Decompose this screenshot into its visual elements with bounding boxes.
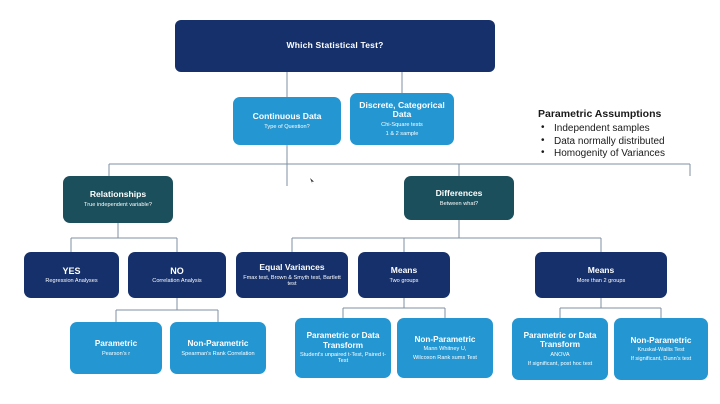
node-means-more-groups-sub: More than 2 groups	[577, 278, 626, 284]
node-no[interactable]: NO Correlation Analysis	[128, 252, 226, 298]
mouse-cursor-icon	[310, 178, 314, 184]
node-relationships-sub: True independent variable?	[84, 202, 152, 208]
legend-title: Parametric Assumptions	[538, 108, 718, 120]
flowchart-canvas: Which Statistical Test? Continuous Data …	[0, 0, 720, 404]
node-parametric-more-groups-sub1: ANOVA	[550, 352, 569, 358]
node-parametric-more-groups-sub2: If significant, post hoc test	[528, 361, 592, 367]
node-differences-title: Differences	[436, 189, 483, 199]
node-nonparametric-two-groups-title: Non-Parametric	[415, 335, 476, 344]
node-continuous-data[interactable]: Continuous Data Type of Question?	[233, 97, 341, 145]
legend-item: Homogenity of Variances	[538, 148, 718, 159]
node-relationships-title: Relationships	[90, 190, 146, 200]
node-no-title: NO	[170, 266, 184, 276]
node-nonparametric-two-groups[interactable]: Non-Parametric Mann Whitney U, Wilcoxon …	[397, 318, 493, 378]
node-parametric-two-groups-title: Parametric or Data Transform	[299, 331, 387, 349]
node-differences[interactable]: Differences Between what?	[404, 176, 514, 220]
node-equal-variances-title: Equal Variances	[259, 263, 324, 273]
node-nonparametric-relationships-title: Non-Parametric	[188, 339, 249, 348]
node-nonparametric-relationships[interactable]: Non-Parametric Spearman's Rank Correlati…	[170, 322, 266, 374]
legend-list: Independent samples Data normally distri…	[538, 123, 718, 159]
node-no-sub: Correlation Analysis	[152, 278, 201, 284]
diagram-title: Which Statistical Test?	[175, 20, 495, 72]
node-nonparametric-more-groups-title: Non-Parametric	[631, 336, 692, 345]
node-parametric-relationships-title: Parametric	[95, 339, 137, 348]
node-continuous-data-sub: Type of Question?	[264, 124, 309, 130]
node-continuous-data-title: Continuous Data	[253, 112, 322, 122]
node-nonparametric-relationships-sub: Spearman's Rank Correlation	[181, 351, 254, 357]
node-means-two-groups-title: Means	[391, 266, 417, 276]
node-means-two-groups-sub: Two groups	[390, 278, 419, 284]
node-yes-title: YES	[62, 266, 80, 276]
node-discrete-categorical-data[interactable]: Discrete, Categorical Data Chi-Square te…	[350, 93, 454, 145]
node-parametric-more-groups[interactable]: Parametric or Data Transform ANOVA If si…	[512, 318, 608, 380]
node-nonparametric-more-groups-sub2: If significant, Dunn's test	[631, 356, 691, 362]
node-parametric-more-groups-title: Parametric or Data Transform	[516, 331, 604, 349]
node-parametric-relationships-sub: Pearson's r	[102, 351, 130, 357]
legend-item: Independent samples	[538, 123, 718, 134]
node-equal-variances[interactable]: Equal Variances Fmax test, Brown & Smyth…	[236, 252, 348, 298]
node-means-more-groups-title: Means	[588, 266, 614, 276]
node-discrete-categorical-data-sub2: 1 & 2 sample	[386, 131, 419, 137]
parametric-assumptions-legend: Parametric Assumptions Independent sampl…	[538, 108, 718, 161]
node-nonparametric-more-groups[interactable]: Non-Parametric Kruskal-Wallis Test If si…	[614, 318, 708, 380]
node-means-two-groups[interactable]: Means Two groups	[358, 252, 450, 298]
node-differences-sub: Between what?	[440, 201, 478, 207]
node-nonparametric-more-groups-sub1: Kruskal-Wallis Test	[638, 347, 685, 353]
node-parametric-two-groups[interactable]: Parametric or Data Transform Student's u…	[295, 318, 391, 378]
node-discrete-categorical-data-title: Discrete, Categorical Data	[354, 101, 450, 120]
node-means-more-groups[interactable]: Means More than 2 groups	[535, 252, 667, 298]
node-parametric-relationships[interactable]: Parametric Pearson's r	[70, 322, 162, 374]
diagram-title-text: Which Statistical Test?	[286, 41, 383, 51]
node-parametric-two-groups-sub: Student's unpaired t-Test, Paired t-Test	[299, 352, 387, 365]
node-equal-variances-sub: Fmax test, Brown & Smyth test, Bartlett …	[240, 275, 344, 288]
node-nonparametric-two-groups-sub2: Wilcoxon Rank sums Test	[413, 355, 477, 361]
node-yes[interactable]: YES Regression Analyses	[24, 252, 119, 298]
node-discrete-categorical-data-sub1: Chi-Square tests	[381, 122, 423, 128]
node-relationships[interactable]: Relationships True independent variable?	[63, 176, 173, 223]
node-nonparametric-two-groups-sub1: Mann Whitney U,	[424, 346, 467, 352]
node-yes-sub: Regression Analyses	[45, 278, 97, 284]
legend-item: Data normally distributed	[538, 136, 718, 147]
